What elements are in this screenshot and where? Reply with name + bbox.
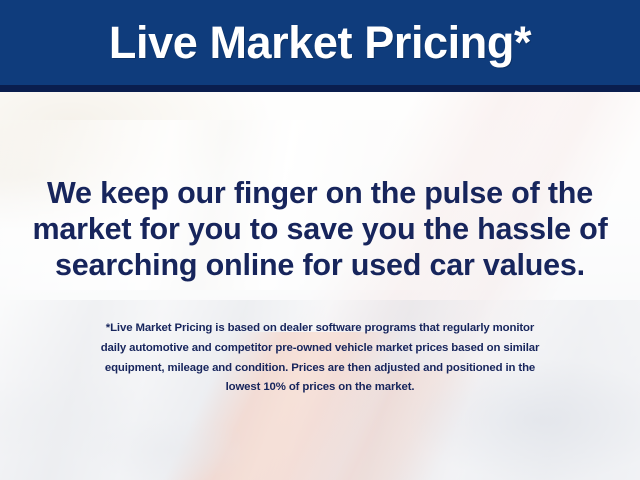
disclaimer-line-2: daily automotive and competitor pre-owne… <box>28 339 612 359</box>
header-banner: Live Market Pricing* <box>0 0 640 92</box>
page-title: Live Market Pricing* <box>0 0 640 85</box>
headline-block: We keep our finger on the pulse of the m… <box>22 175 618 283</box>
banner-bottom-strip <box>0 85 640 92</box>
disclaimer-line-1: *Live Market Pricing is based on dealer … <box>28 319 612 339</box>
headline-line-2: market for you to save you the hassle of <box>22 211 618 247</box>
disclaimer-line-4: lowest 10% of prices on the market. <box>28 378 612 398</box>
disclaimer-line-3: equipment, mileage and condition. Prices… <box>28 359 612 379</box>
headline-line-1: We keep our finger on the pulse of the <box>22 175 618 211</box>
headline-line-3: searching online for used car values. <box>22 247 618 283</box>
disclaimer-block: *Live Market Pricing is based on dealer … <box>28 319 612 398</box>
live-market-pricing-card: Live Market Pricing* We keep our finger … <box>0 0 640 480</box>
